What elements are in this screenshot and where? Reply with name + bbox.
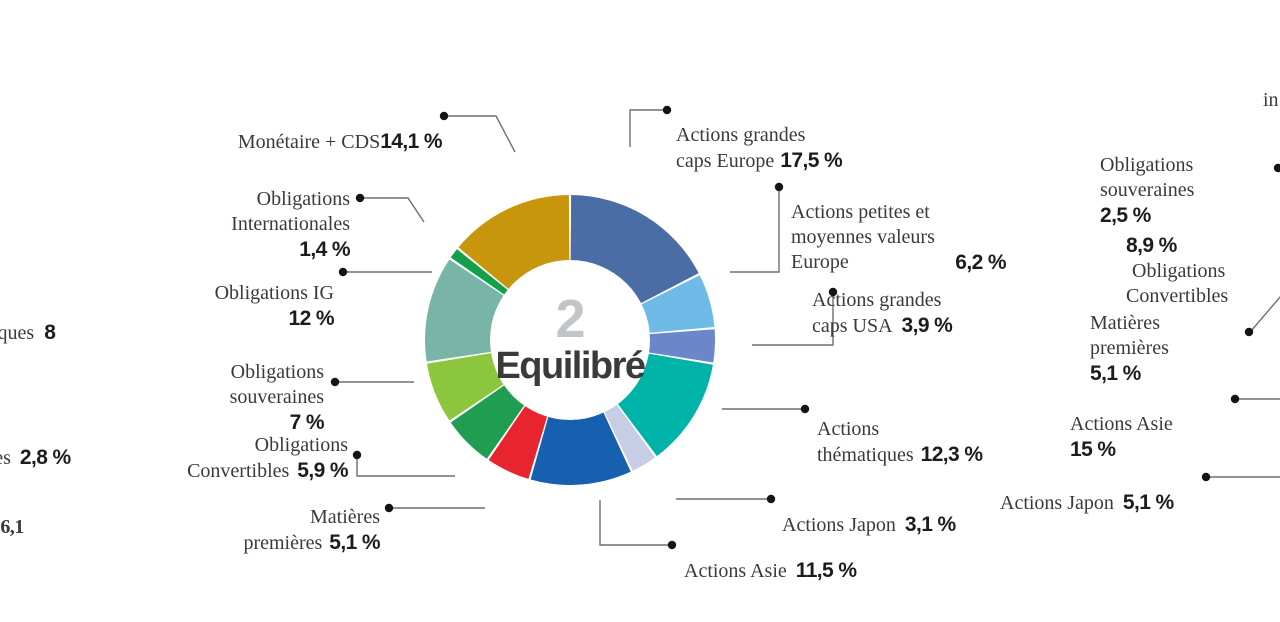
label-actions-asie: Actions Asie11,5 % [684, 533, 984, 584]
label-actions-grandes-caps-europe-value: 17,5 % [780, 149, 842, 172]
label-actions-petites-moyennes-europe: Actions petites et moyennes valeurs Euro… [791, 175, 1006, 275]
donut-svg [425, 195, 715, 485]
label-actions-thematiques-value: 12,3 % [921, 443, 983, 466]
label-obligations-convertibles: Obligations Convertibles5,9 % [140, 408, 348, 484]
label-monetaire-cds-value: 14,1 % [380, 130, 442, 153]
label-actions-thematiques-name: Actions thématiques [817, 418, 914, 466]
left-fragment-2-name: ons matiques [0, 296, 34, 344]
label-actions-japon-value: 3,1 % [905, 513, 956, 536]
right-fragment-obligations-souveraines-name: Obligations souveraines [1100, 154, 1194, 201]
label-actions-japon-name: Actions Japon [782, 514, 896, 536]
label-obligations-souveraines-name: Obligations souveraines [230, 361, 324, 408]
label-monetaire-cds-name: Monétaire + CDS [238, 131, 380, 153]
left-fragment-3: tions ertibles2,8 % [0, 395, 122, 471]
right-fragment-actions-japon-value: 5,1 % [1123, 491, 1174, 514]
right-fragment-actions-japon: Actions Japon5,1 % [1000, 465, 1200, 516]
label-actions-petites-moyennes-europe-value: 6,2 % [955, 250, 1006, 275]
donut-chart: 2 Equilibré [425, 195, 715, 485]
label-obligations-convertibles-value: 5,9 % [297, 459, 348, 482]
left-fragment-1: arge 7,7 % [0, 173, 20, 273]
left-fragment-3-value: 2,8 % [20, 446, 71, 469]
label-obligations-internationales-name: Obligations Internationales [231, 188, 350, 235]
right-fragment-actions-japon-name: Actions Japon [1000, 492, 1114, 514]
left-fragment-2: ons matiques8 [0, 270, 122, 346]
donut-hole [490, 260, 650, 420]
right-fragment-matieres-premieres-name: Matières premières [1090, 312, 1169, 359]
left-fragment-1-value: 7,7 % [0, 223, 20, 248]
right-fragment-actions-asie-name: Actions Asie [1070, 413, 1173, 435]
label-actions-thematiques: Actions thématiques12,3 % [817, 392, 1077, 468]
chart-page: 2 Equilibré Monétaire + CDS14,1 % Obliga… [0, 0, 1280, 622]
label-actions-asie-name: Actions Asie [684, 560, 787, 582]
left-fragment-3-name: tions ertibles [0, 421, 11, 469]
label-monetaire-cds: Monétaire + CDS14,1 % [180, 104, 442, 155]
right-fragment-actions-asie-value: 15 % [1070, 437, 1230, 462]
label-actions-asie-value: 11,5 % [796, 559, 857, 582]
label-matieres-premieres-value: 5,1 % [329, 531, 380, 554]
left-fragment-2-value: 8 [44, 321, 55, 344]
left-fragment-4-value: 16,1 [0, 515, 91, 540]
right-fragment-matieres-premieres-value: 5,1 % [1090, 361, 1242, 386]
right-fragment-obligations-convertibles-value: 8,9 % [1126, 234, 1177, 257]
label-obligations-ig-value: 12 % [150, 306, 334, 331]
label-actions-petites-moyennes-europe-name: Actions petites et moyennes valeurs Euro… [791, 201, 935, 273]
label-obligations-ig-name: Obligations IG [215, 282, 334, 304]
label-actions-grandes-caps-usa-value: 3,9 % [902, 314, 953, 337]
label-actions-grandes-caps-europe: Actions grandes caps Europe17,5 % [676, 98, 956, 174]
right-fragment-top: in [1263, 88, 1280, 113]
label-matieres-premieres: Matières premières5,1 % [160, 480, 380, 556]
